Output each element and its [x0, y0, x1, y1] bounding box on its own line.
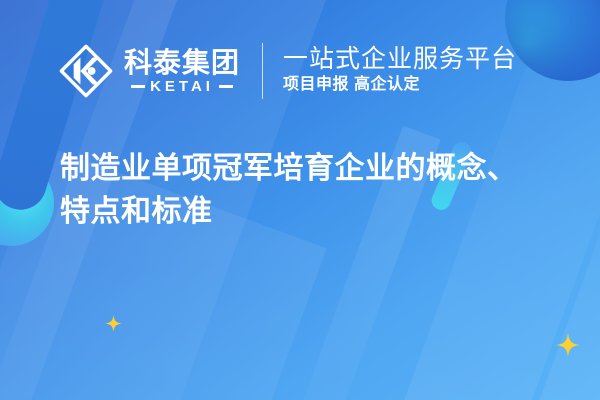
slogan-block: 一站式企业服务平台 项目申报 高企认定	[283, 45, 517, 98]
brand-logo[interactable]: 科泰集团 KETAI	[58, 43, 240, 99]
sparkle-star-icon	[105, 315, 122, 332]
slogan-main: 一站式企业服务平台	[283, 45, 517, 74]
promo-banner: 科泰集团 KETAI 一站式企业服务平台 项目申报 高企认定 制造业单项冠军培育…	[0, 0, 600, 400]
vertical-divider-icon	[262, 43, 263, 99]
brand-name-cn: 科泰集团	[124, 48, 240, 77]
slogan-sub: 项目申报 高企认定	[283, 73, 517, 97]
dash-right-icon	[219, 85, 233, 88]
brand-name-en: KETAI	[150, 79, 214, 94]
kd-diamond-monogram-icon	[58, 43, 114, 99]
brand-logo-text: 科泰集团 KETAI	[124, 48, 240, 94]
brand-name-en-row: KETAI	[131, 79, 233, 94]
dash-left-icon	[131, 85, 145, 88]
page-title: 制造业单项冠军培育企业的概念、特点和标准	[60, 148, 530, 233]
sparkle-star-icon	[556, 333, 580, 357]
banner-header: 科泰集团 KETAI 一站式企业服务平台 项目申报 高企认定	[0, 35, 600, 107]
